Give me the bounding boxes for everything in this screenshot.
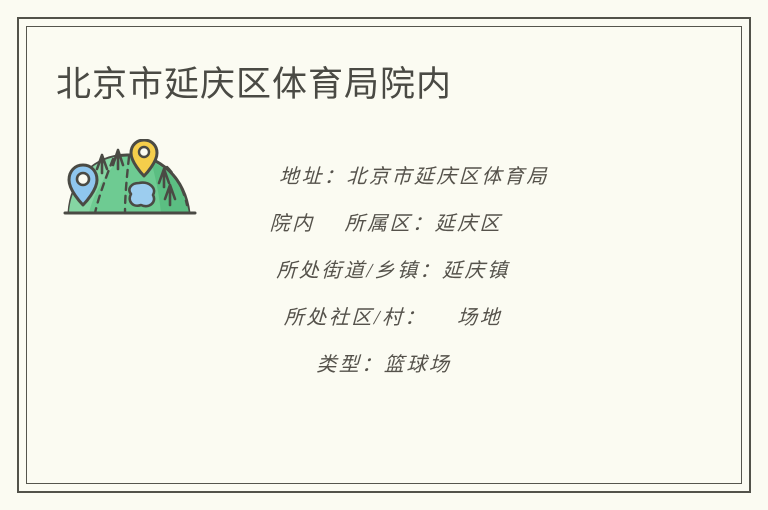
detail-line-street: 所处街道/乡镇：延庆镇 [25, 248, 743, 295]
detail-line-type: 类型：篮球场 [25, 342, 743, 389]
detail-line-district: 院内 所属区：延庆区 [25, 201, 743, 248]
detail-line-community: 所处社区/村： 场地 [25, 295, 743, 342]
page-title: 北京市延庆区体育局院内 [56, 64, 452, 106]
venue-details: 地址：北京市延庆区体育局 院内 所属区：延庆区 所处街道/乡镇：延庆镇 所处社区… [26, 154, 742, 389]
card-content: 北京市延庆区体育局院内 [26, 26, 742, 484]
detail-line-address: 地址：北京市延庆区体育局 [25, 154, 743, 201]
document-page: 北京市延庆区体育局院内 [0, 0, 768, 510]
